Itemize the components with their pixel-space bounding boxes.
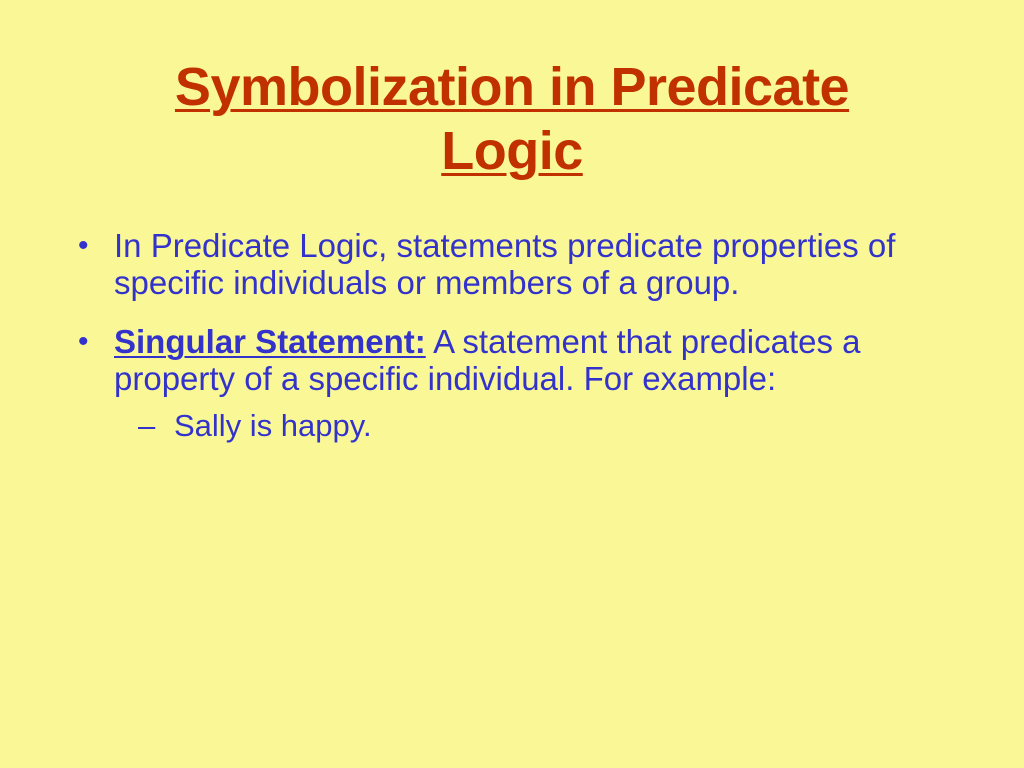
bullet-item-1-text: In Predicate Logic, statements predicate… xyxy=(114,228,934,302)
bullet-marker-icon: • xyxy=(78,228,114,264)
slide-body: • In Predicate Logic, statements predica… xyxy=(78,228,978,443)
bullet-item-1: • In Predicate Logic, statements predica… xyxy=(78,228,978,302)
bullet-item-2-text: Singular Statement: A statement that pre… xyxy=(114,324,914,398)
dash-marker-icon: – xyxy=(138,408,174,444)
bullet-item-3: – Sally is happy. xyxy=(138,408,978,444)
bullet-marker-icon: • xyxy=(78,324,114,360)
slide: Symbolization in Predicate Logic • In Pr… xyxy=(0,0,1024,768)
bullet-item-3-text: Sally is happy. xyxy=(174,408,372,444)
bullet-item-2-lead: Singular Statement: xyxy=(114,323,426,360)
bullet-item-2: • Singular Statement: A statement that p… xyxy=(78,324,978,398)
page-title-line-2: Logic xyxy=(441,121,583,181)
page-title: Symbolization in Predicate Logic xyxy=(60,56,964,183)
page-title-line-1: Symbolization in Predicate xyxy=(175,57,849,117)
